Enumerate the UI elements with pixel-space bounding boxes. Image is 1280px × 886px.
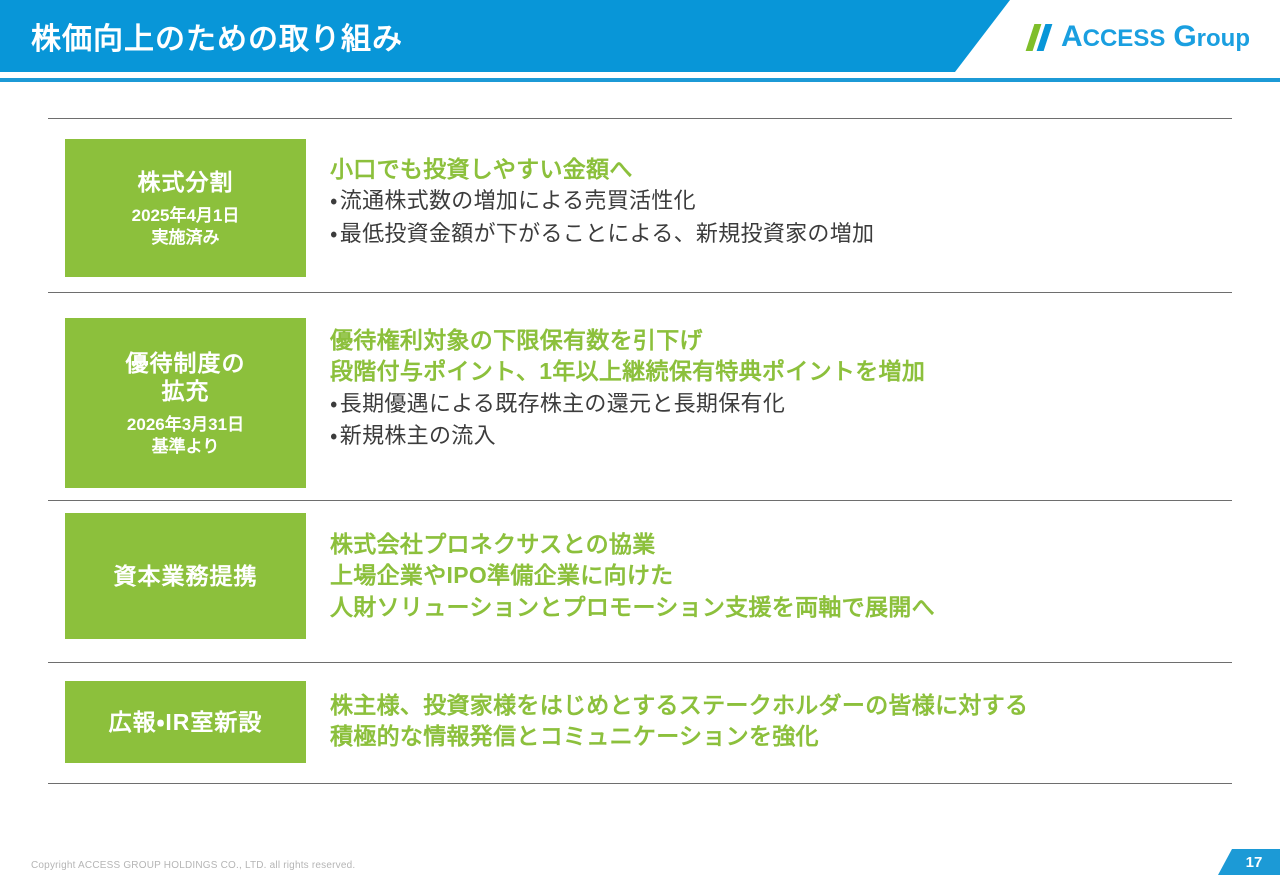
- initiative-label-title: 優待制度の 拡充: [126, 349, 246, 405]
- initiative-bullet: ・長期優遇による既存株主の還元と長期保有化: [330, 388, 1240, 421]
- header-divider-rule: [0, 78, 1280, 82]
- initiative-label-box: 広報・IR室新設: [65, 681, 306, 763]
- logo-g: G: [1173, 20, 1196, 53]
- logo-wordmark: ACCESSGroup: [1061, 20, 1250, 54]
- initiative-headline: 段階付与ポイント、1年以上継続保有特典ポイントを増加: [330, 356, 1240, 387]
- bullet-marker-icon: ・: [330, 221, 338, 246]
- bullet-marker-icon: ・: [330, 391, 338, 416]
- initiative-bullet-text: 新規株主の流入: [340, 423, 496, 448]
- row-separator-3: [48, 662, 1232, 663]
- initiative-label-box: 資本業務提携: [65, 513, 306, 639]
- bullet-marker-icon: ・: [330, 188, 338, 213]
- logo-a: A: [1061, 20, 1083, 53]
- initiative-label-title: 広報・IR室新設: [109, 708, 263, 736]
- bullet-marker-icon: ・: [330, 423, 338, 448]
- initiative-headline: 株式会社プロネクサスとの協業: [330, 529, 1240, 560]
- page-number-badge: 17: [1218, 849, 1280, 875]
- initiative-bullet-text: 最低投資金額が下がることによる、新規投資家の増加: [340, 221, 875, 246]
- initiative-label-title: 資本業務提携: [114, 562, 258, 590]
- logo-ccess: CCESS: [1083, 25, 1166, 52]
- initiative-label-subtitle: 2026年3月31日 基準より: [127, 414, 244, 457]
- initiative-bullet-text: 長期優遇による既存株主の還元と長期保有化: [340, 391, 785, 416]
- logo-roup: roup: [1197, 25, 1250, 52]
- initiative-headline: 上場企業やIPO準備企業に向けた: [330, 560, 1240, 591]
- initiative-headline: 小口でも投資しやすい金額へ: [330, 154, 1240, 185]
- initiative-bullet: ・最低投資金額が下がることによる、新規投資家の増加: [330, 218, 1240, 251]
- initiative-headline: 積極的な情報発信とコミュニケーションを強化: [330, 721, 1240, 752]
- row-separator-2: [48, 500, 1232, 501]
- initiative-label-box: 優待制度の 拡充 2026年3月31日 基準より: [65, 318, 306, 488]
- initiative-bullet-text: 流通株式数の増加による売買活性化: [340, 188, 696, 213]
- logo-slash-icon: [1030, 24, 1056, 51]
- initiative-body: 株主様、投資家様をはじめとするステークホルダーの皆様に対する 積極的な情報発信と…: [330, 690, 1240, 753]
- initiative-bullet: ・流通株式数の増加による売買活性化: [330, 185, 1240, 218]
- page-title: 株価向上のための取り組み: [31, 0, 403, 72]
- initiative-headline: 優待権利対象の下限保有数を引下げ: [330, 325, 1240, 356]
- initiative-headline: 株主様、投資家様をはじめとするステークホルダーの皆様に対する: [330, 690, 1240, 721]
- copyright-text: Copyright ACCESS GROUP HOLDINGS CO., LTD…: [31, 860, 355, 871]
- initiative-label-subtitle: 2025年4月1日 実施済み: [132, 205, 240, 248]
- row-separator-1: [48, 292, 1232, 293]
- row-separator-bottom: [48, 783, 1232, 784]
- initiative-headline: 人財ソリューションとプロモーション支援を両軸で展開へ: [330, 592, 1240, 623]
- initiative-label-box: 株式分割 2025年4月1日 実施済み: [65, 139, 306, 277]
- initiative-label-title: 株式分割: [138, 168, 234, 196]
- initiative-bullet: ・新規株主の流入: [330, 420, 1240, 453]
- initiative-body: 優待権利対象の下限保有数を引下げ 段階付与ポイント、1年以上継続保有特典ポイント…: [330, 325, 1240, 453]
- initiative-body: 株式会社プロネクサスとの協業 上場企業やIPO準備企業に向けた 人財ソリューショ…: [330, 529, 1240, 623]
- initiative-body: 小口でも投資しやすい金額へ ・流通株式数の増加による売買活性化 ・最低投資金額が…: [330, 154, 1240, 250]
- access-group-logo: ACCESSGroup: [1030, 18, 1250, 56]
- row-separator-top: [48, 118, 1232, 119]
